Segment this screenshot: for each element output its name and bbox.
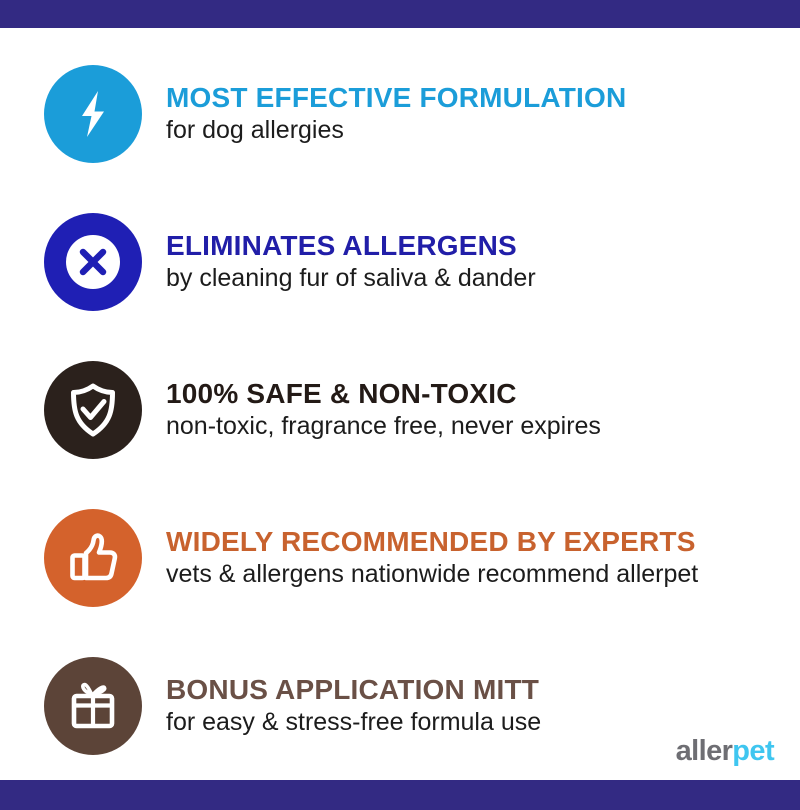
feature-list: MOST EFFECTIVE FORMULATION for dog aller… (18, 40, 782, 780)
feature-row: 100% SAFE & NON-TOXIC non-toxic, fragran… (18, 336, 782, 484)
logo-text-aller: aller (676, 735, 733, 767)
feature-subtitle: non-toxic, fragrance free, never expires (166, 412, 782, 440)
feature-row: WIDELY RECOMMENDED BY EXPERTS vets & all… (18, 484, 782, 632)
feature-row: ELIMINATES ALLERGENS by cleaning fur of … (18, 188, 782, 336)
feature-icon-badge (44, 657, 142, 755)
feature-title: MOST EFFECTIVE FORMULATION (166, 82, 782, 113)
feature-icon-badge (44, 509, 142, 607)
feature-text: BONUS APPLICATION MITT for easy & stress… (142, 674, 782, 737)
feature-row: BONUS APPLICATION MITT for easy & stress… (18, 632, 782, 780)
top-accent-band (0, 0, 800, 28)
shield-check-icon (62, 379, 124, 441)
feature-title: BONUS APPLICATION MITT (166, 674, 782, 705)
logo-text-pet: pet (732, 735, 774, 767)
gift-box-icon (62, 675, 124, 737)
lightning-bolt-icon (65, 86, 121, 142)
feature-title: 100% SAFE & NON-TOXIC (166, 378, 782, 409)
feature-subtitle: for easy & stress-free formula use (166, 708, 782, 736)
feature-text: 100% SAFE & NON-TOXIC non-toxic, fragran… (142, 378, 782, 441)
poster-canvas: MOST EFFECTIVE FORMULATION for dog aller… (0, 28, 800, 780)
feature-icon-badge (44, 213, 142, 311)
feature-title: ELIMINATES ALLERGENS (166, 230, 782, 261)
feature-text: ELIMINATES ALLERGENS by cleaning fur of … (142, 230, 782, 293)
feature-text: MOST EFFECTIVE FORMULATION for dog aller… (142, 82, 782, 145)
feature-subtitle: by cleaning fur of saliva & dander (166, 264, 782, 292)
thumbs-up-icon (62, 527, 124, 589)
feature-subtitle: for dog allergies (166, 116, 782, 144)
feature-row: MOST EFFECTIVE FORMULATION for dog aller… (18, 40, 782, 188)
feature-poster: MOST EFFECTIVE FORMULATION for dog aller… (0, 0, 800, 800)
feature-text: WIDELY RECOMMENDED BY EXPERTS vets & all… (142, 526, 782, 589)
feature-icon-badge (44, 65, 142, 163)
bottom-accent-band (0, 780, 800, 810)
feature-icon-badge (44, 361, 142, 459)
x-circle-icon (57, 226, 129, 298)
feature-title: WIDELY RECOMMENDED BY EXPERTS (166, 526, 782, 557)
feature-subtitle: vets & allergens nationwide recommend al… (166, 560, 782, 588)
allerpet-logo: allerpet (676, 737, 774, 766)
